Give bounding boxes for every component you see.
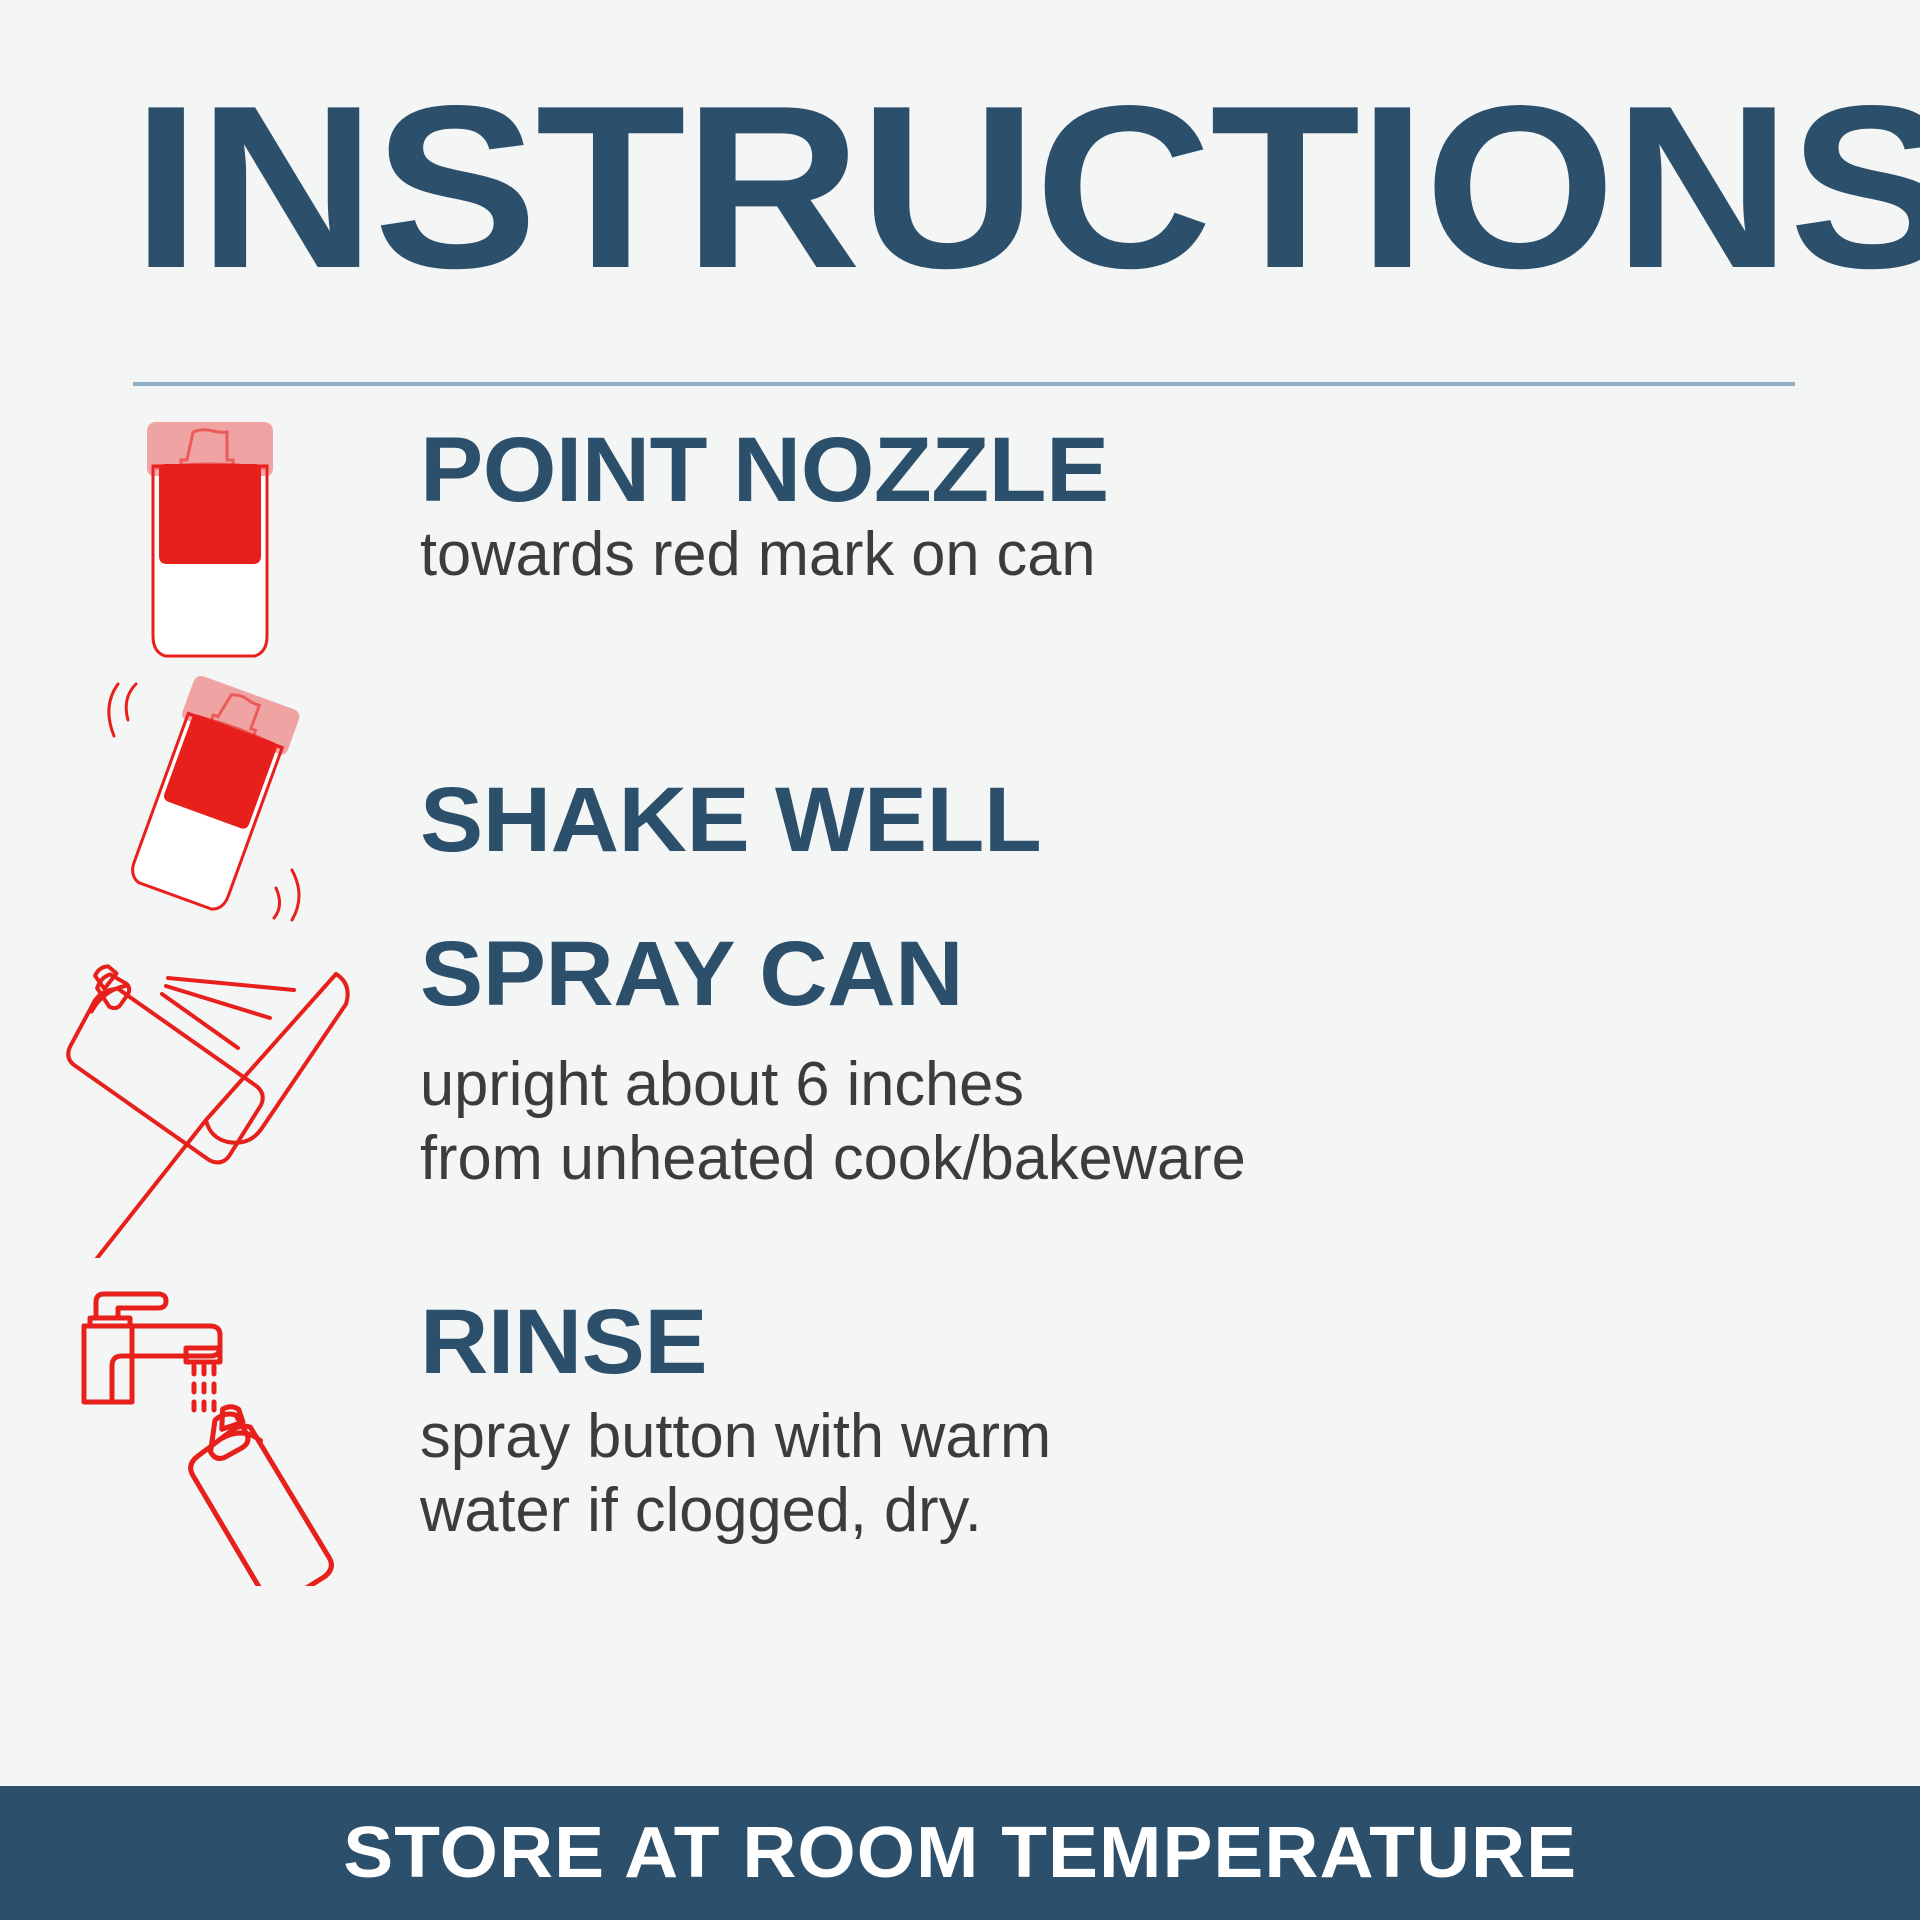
footer-text: STORE AT ROOM TEMPERATURE (343, 1817, 1577, 1889)
footer-banner: STORE AT ROOM TEMPERATURE (0, 1786, 1920, 1920)
step-text: SHAKE WELL (420, 664, 1920, 868)
spray-can-spraying-pan-icon (0, 926, 420, 1258)
step-heading: SHAKE WELL (420, 772, 1920, 868)
title-divider (133, 382, 1795, 386)
step-heading: POINT NOZZLE (420, 422, 1920, 518)
step-heading: SPRAY CAN (420, 926, 1920, 1022)
step-text: RINSE spray button with warm water if cl… (420, 1276, 1920, 1548)
step-text: SPRAY CAN upright about 6 inches from un… (420, 926, 1920, 1196)
step-heading: RINSE (420, 1294, 1920, 1390)
step-item: POINT NOZZLE towards red mark on can (0, 414, 1920, 664)
step-subline: spray button with warm (420, 1400, 1905, 1474)
step-item: RINSE spray button with warm water if cl… (0, 1276, 1920, 1606)
faucet-rinsing-can-icon (0, 1276, 420, 1586)
spray-can-shaking-icon (0, 664, 420, 932)
page-title: INSTRUCTIONS (132, 72, 1902, 304)
step-subline: upright about 6 inches (420, 1048, 1905, 1122)
step-subline: water if clogged, dry. (420, 1474, 1905, 1548)
instructions-infographic: INSTRUCTIONS POINT NOZZL (0, 0, 1920, 1920)
step-text: POINT NOZZLE towards red mark on can (420, 414, 1920, 592)
spray-can-upright-icon (0, 414, 420, 664)
steps-list: POINT NOZZLE towards red mark on can (0, 414, 1920, 1606)
step-item: SPRAY CAN upright about 6 inches from un… (0, 926, 1920, 1276)
step-item: SHAKE WELL (0, 664, 1920, 926)
step-subline: towards red mark on can (420, 518, 1905, 592)
step-subline: from unheated cook/bakeware (420, 1122, 1905, 1196)
